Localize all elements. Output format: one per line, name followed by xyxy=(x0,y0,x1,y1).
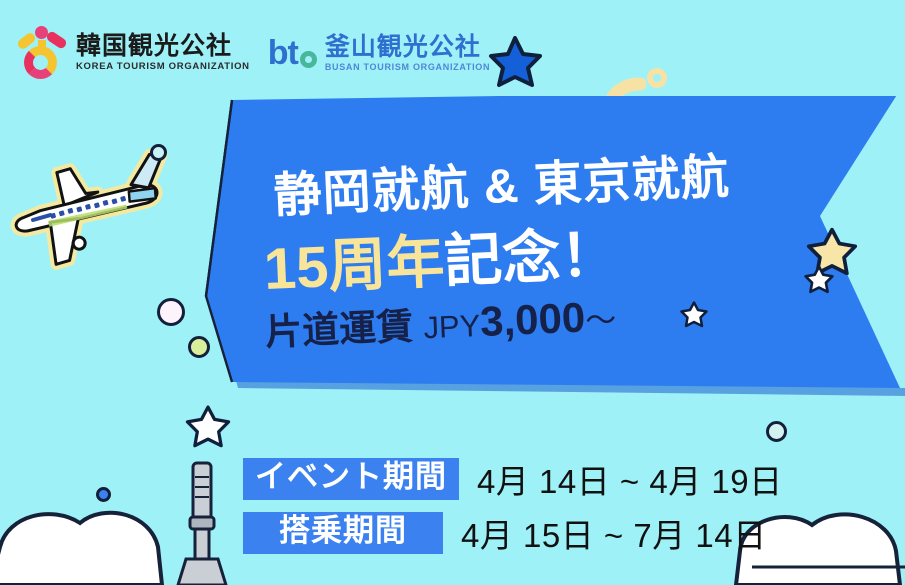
tower-illustration-icon xyxy=(178,463,226,585)
kto-name-cjk: 韓国観光公社 xyxy=(76,34,250,59)
fare-amount: 3,000 xyxy=(479,294,586,345)
bto-name-cjk: 釜山観光公社 xyxy=(325,35,490,60)
boarding-period-label: 搭乗期間 xyxy=(243,512,443,554)
teal-circle-dot-right xyxy=(766,421,787,442)
kto-logo: 韓国観光公社 KOREA TOURISM ORGANIZATION xyxy=(16,26,250,80)
blue-circle-dot-bottom xyxy=(96,487,111,502)
kto-logo-text: 韓国観光公社 KOREA TOURISM ORGANIZATION xyxy=(76,34,250,72)
date-row: イベント期間 4月 14日 ~ 4月 19日 xyxy=(243,455,783,503)
korea-tourism-organization-symbol-icon xyxy=(16,26,68,80)
event-period-value: 4月 14日 ~ 4月 19日 xyxy=(477,455,783,503)
bto-wordmark: bt xyxy=(268,36,298,70)
bto-logo-text: 釜山観光公社 BUSAN TOURISM ORGANIZATION xyxy=(325,35,490,72)
blue-circle-dot-bottom-right xyxy=(845,559,865,579)
kto-name-english: KOREA TOURISM ORGANIZATION xyxy=(76,62,250,72)
bto-logo: bt 釜山観光公社 BUSAN TOURISM ORGANIZATION xyxy=(268,35,490,72)
headline-commemoration: 記念！ xyxy=(443,222,620,294)
bto-circle-icon xyxy=(300,51,317,68)
busan-tourism-organization-symbol-icon: bt xyxy=(268,36,317,70)
date-rows: イベント期間 4月 14日 ~ 4月 19日 搭乗期間 4月 15日 ~ 7月 … xyxy=(243,455,783,563)
headline-anniversary: 15周年 xyxy=(263,229,446,302)
white-star-icon xyxy=(185,403,231,454)
event-period-label: イベント期間 xyxy=(243,458,459,500)
fare-currency: JPY xyxy=(423,308,481,345)
tiny-white-star-icon xyxy=(680,300,708,333)
fare-label: 片道運賃 xyxy=(264,306,414,353)
small-white-star-icon xyxy=(804,264,834,299)
promo-banner: 静岡就航 & 東京就航 15周年記念！ 片道運賃 JPY3,000〜 韓国観光公… xyxy=(0,0,905,585)
boarding-period-value: 4月 15日 ~ 7月 14日 xyxy=(461,509,767,557)
logo-bar: 韓国観光公社 KOREA TOURISM ORGANIZATION bt 釜山観… xyxy=(16,26,490,80)
date-row: 搭乗期間 4月 15日 ~ 7月 14日 xyxy=(243,509,783,557)
blue-star-icon xyxy=(487,34,543,95)
bto-name-english: BUSAN TOURISM ORGANIZATION xyxy=(325,63,490,72)
white-circle-dot-bottom xyxy=(64,520,86,542)
fare-suffix: 〜 xyxy=(585,302,617,338)
